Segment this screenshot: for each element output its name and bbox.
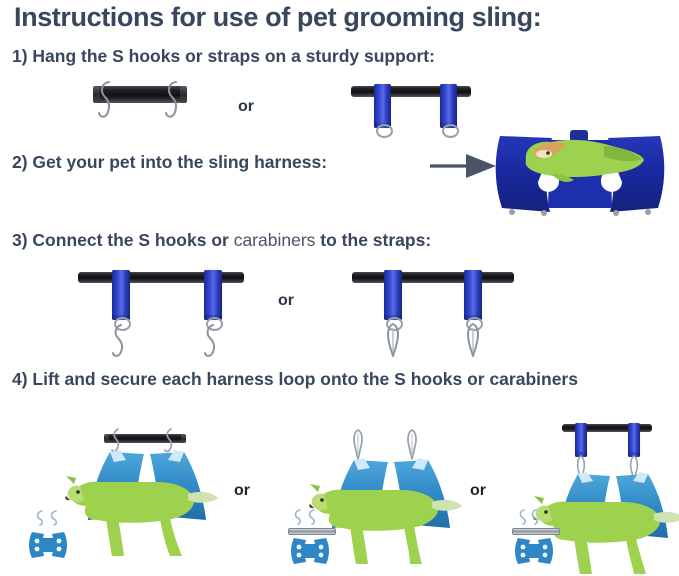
pet-dog: [508, 132, 648, 190]
carabiner-icon: [464, 322, 482, 360]
blue-strap: [204, 270, 222, 320]
blue-strap: [384, 270, 402, 320]
blue-strap: [464, 270, 482, 320]
step-1-or-label: or: [238, 98, 254, 116]
bar-end-cap-right: [181, 434, 186, 443]
blue-strap: [440, 84, 457, 128]
bar-icon: [512, 528, 560, 535]
s-hooks-icon: [34, 508, 74, 528]
sling-harness-icon: [28, 530, 68, 560]
sling-harness-icon: [514, 536, 554, 566]
blue-strap: [112, 270, 130, 320]
step-3-text: 3) Connect the S hooks or carabiners to …: [12, 230, 431, 251]
instruction-sheet: Instructions for use of pet grooming sli…: [0, 0, 679, 564]
step-3-or-label: or: [278, 292, 294, 310]
blue-strap: [374, 84, 391, 128]
blue-strap: [628, 423, 640, 457]
step-1-text: 1) Hang the S hooks or straps on a sturd…: [12, 46, 435, 67]
s-hook-icon: [204, 324, 224, 364]
page-title: Instructions for use of pet grooming sli…: [14, 2, 674, 33]
s-hook-icon: [163, 80, 185, 130]
step-4-text: 4) Lift and secure each harness loop ont…: [12, 368, 674, 391]
carabiner-icon: [384, 322, 402, 360]
step-2-text: 2) Get your pet into the sling harness:: [12, 152, 327, 173]
sling-harness-icon: [290, 536, 330, 566]
step-3-text-before: 3) Connect the S hooks or: [12, 230, 229, 250]
step-3-text-carabiners: carabiners: [234, 230, 316, 250]
metal-ring: [442, 124, 459, 138]
metal-ring: [376, 124, 393, 138]
blue-strap: [575, 423, 587, 457]
step-3-text-after: to the straps:: [320, 230, 431, 250]
bar-icon: [288, 528, 336, 535]
s-hook-icon: [112, 324, 132, 364]
arrow-right-icon: [430, 148, 500, 184]
bar-end-cap-left: [104, 434, 109, 443]
s-hooks-icon: [516, 508, 556, 526]
step-4-or-label-2: or: [470, 482, 486, 500]
s-hook-icon: [96, 80, 118, 130]
support-bar: [352, 272, 514, 283]
pet-dog: [62, 466, 222, 558]
step-4-or-label-1: or: [234, 482, 250, 500]
s-hooks-icon: [292, 508, 332, 526]
